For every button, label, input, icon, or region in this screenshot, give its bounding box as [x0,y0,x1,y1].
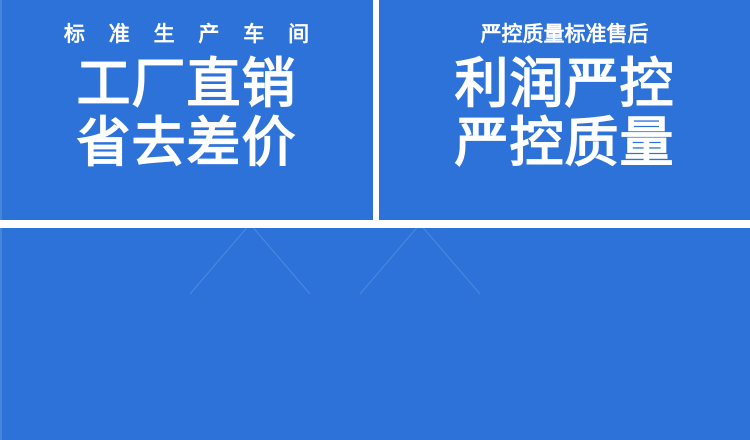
panel-quality-control-headline-line1: 利润严控 [455,57,675,112]
panel-factory-direct-eyebrow: 标 准 生 产 车 间 [55,24,318,45]
top-panel-row: 标 准 生 产 车 间 工厂直销 省去差价 严控质量标准售后 利润严控 严控质量 [0,0,750,220]
panel-quality-control: 严控质量标准售后 利润严控 严控质量 [379,0,750,220]
panel-factory-direct-headline-line1: 工厂直销 [77,57,297,112]
panel-factory-direct-headline-line2: 省去差价 [77,116,297,171]
panel-factory-direct-content: 标 准 生 产 车 间 工厂直销 省去差价 [0,0,373,220]
panel-quality-control-headline-line2: 严控质量 [455,116,675,171]
panel-details-advantages: 细节与优势 不怕货比，就怕不识货 [0,228,750,440]
panel-factory-direct: 标 准 生 产 车 间 工厂直销 省去差价 [0,0,373,220]
panel-quality-control-eyebrow: 严控质量标准售后 [481,24,649,45]
panel-quality-control-content: 严控质量标准售后 利润严控 严控质量 [379,0,750,220]
diagonal-watermark-pattern [130,228,630,294]
promo-banner: 标 准 生 产 车 间 工厂直销 省去差价 严控质量标准售后 利润严控 严控质量 [0,0,750,440]
